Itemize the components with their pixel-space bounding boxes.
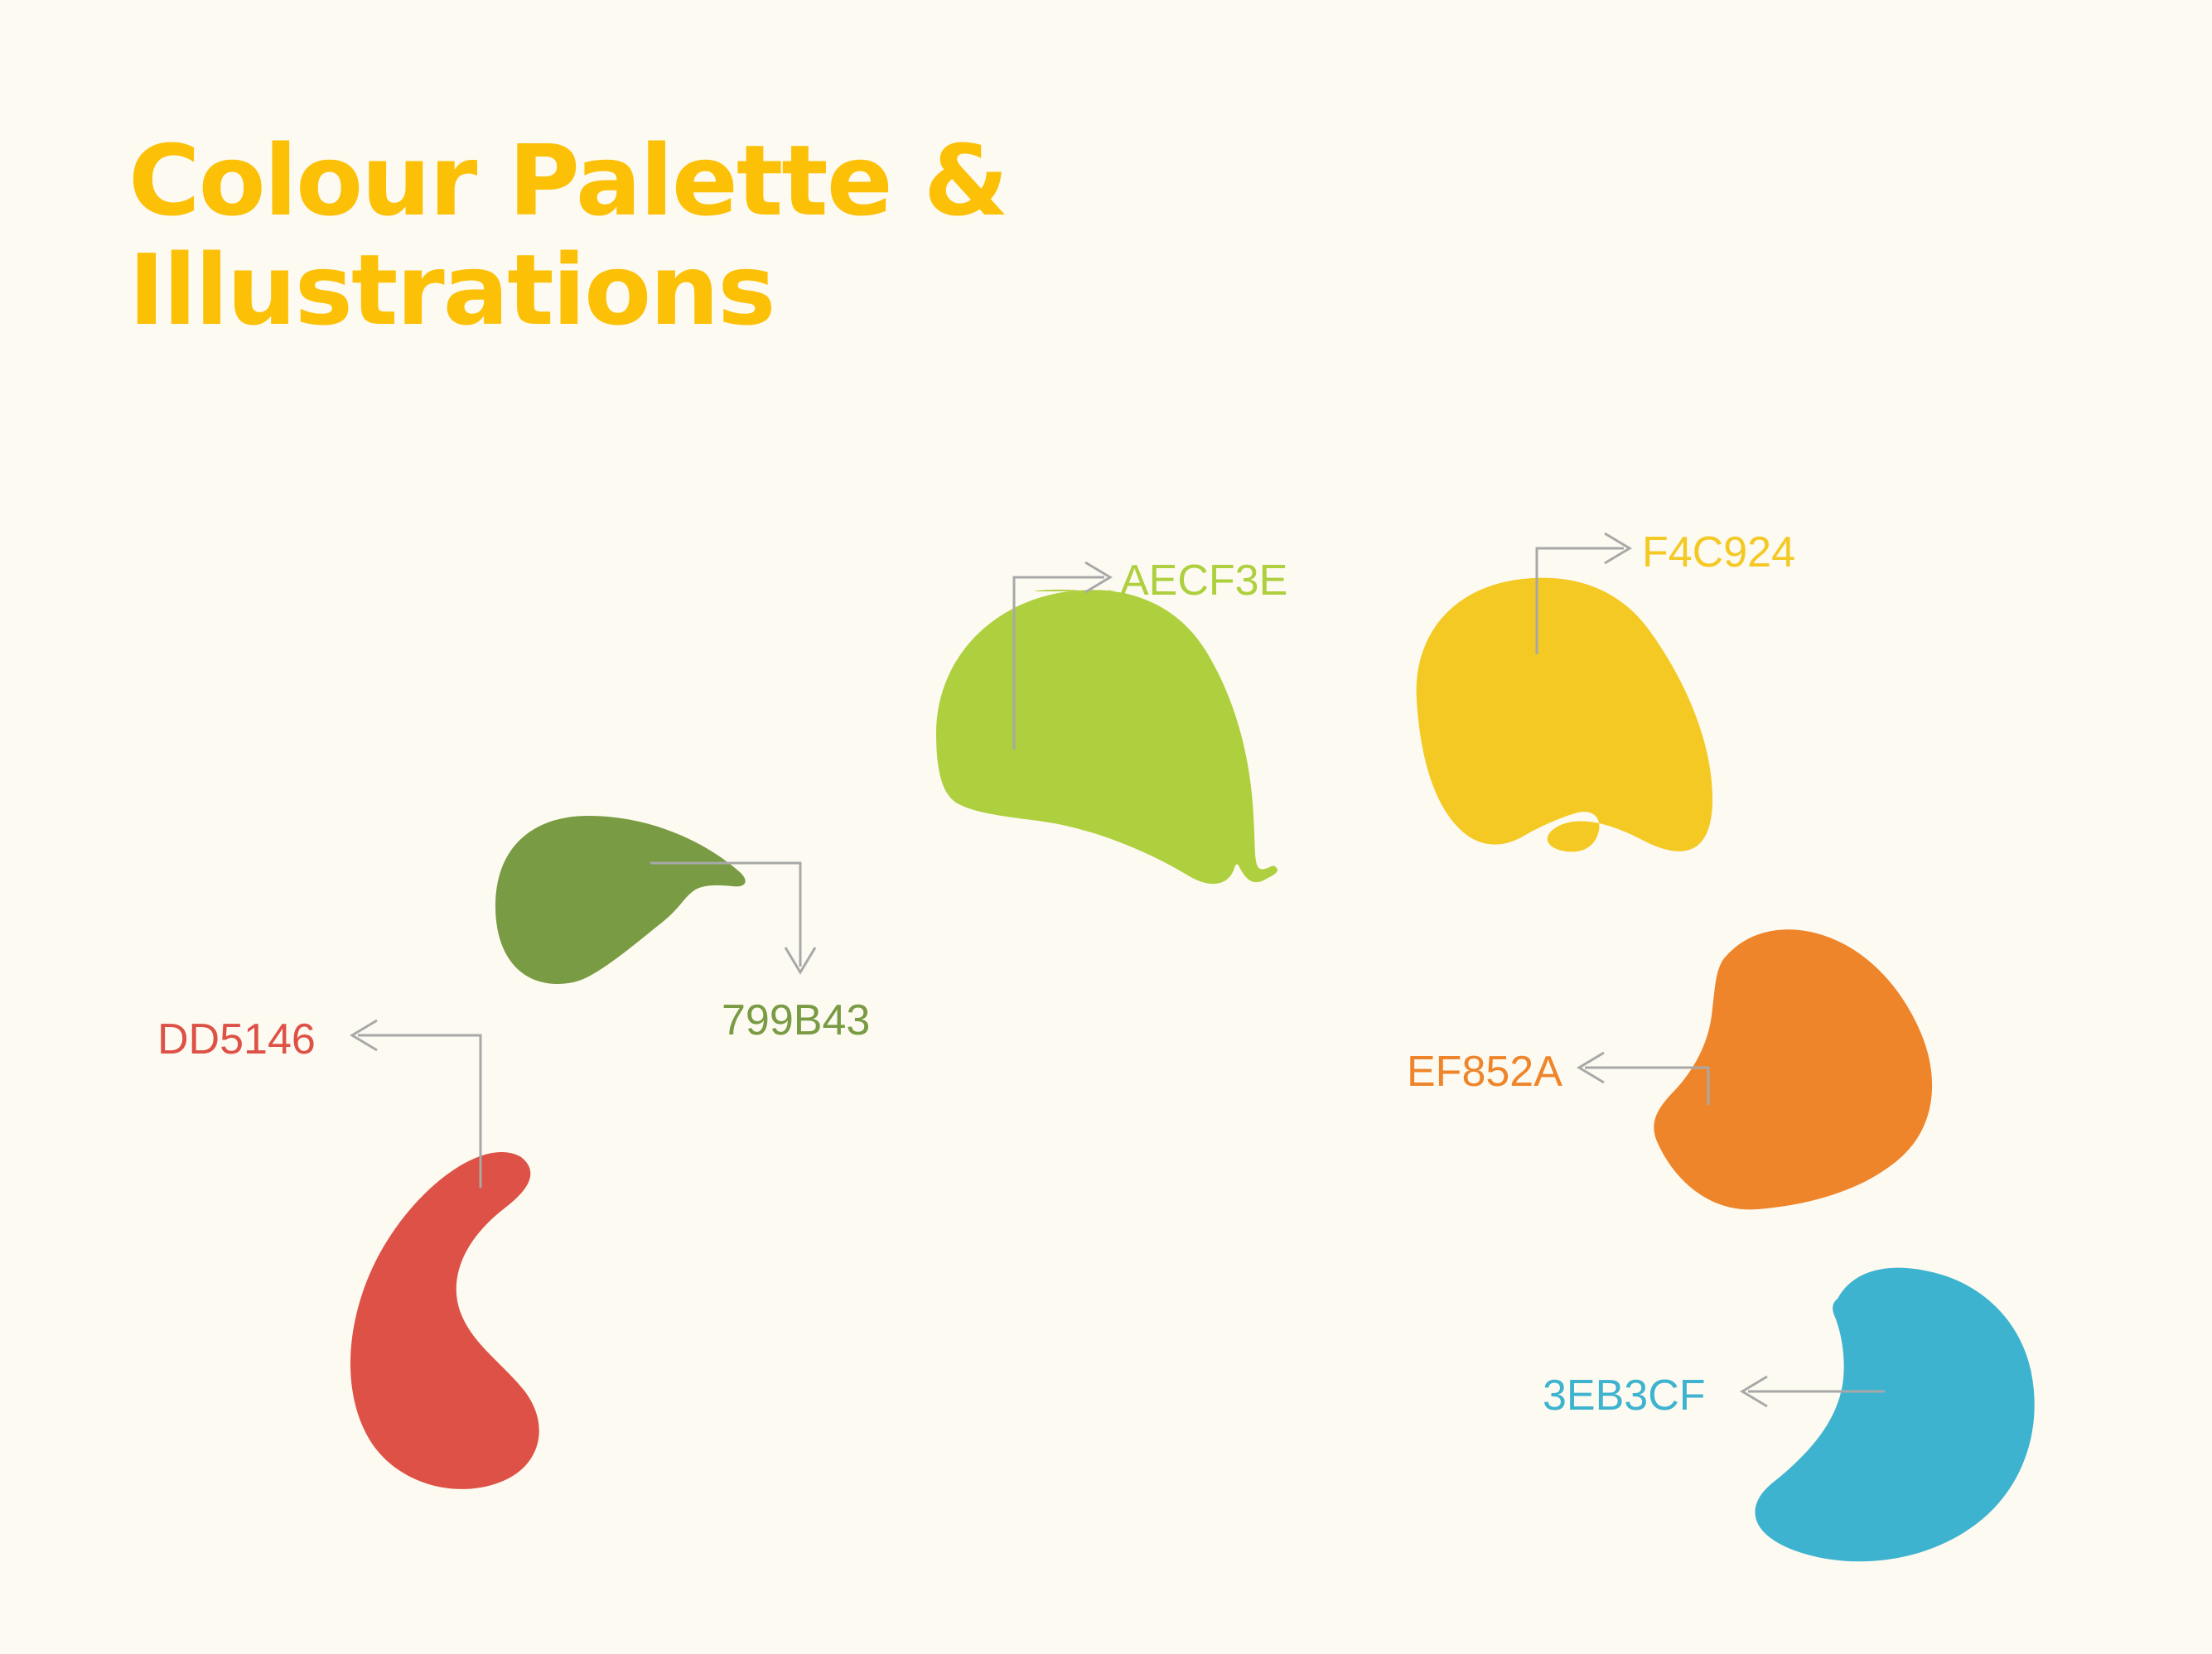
connector-red <box>352 1020 481 1188</box>
slide-canvas: Colour Palette & Illustrations AECF3E F4… <box>0 0 2212 1654</box>
label-orange: EF852A <box>1407 1048 1562 1096</box>
label-golden-yellow: F4C924 <box>1642 528 1795 576</box>
shape-orange <box>1654 929 1932 1209</box>
label-red: DD5146 <box>157 1015 316 1063</box>
shape-red <box>350 1152 539 1489</box>
shape-golden-yellow <box>1417 578 1712 852</box>
shape-blue <box>1755 1268 2034 1562</box>
label-blue: 3EB3CF <box>1543 1372 1706 1420</box>
label-light-green: AECF3E <box>1120 557 1287 605</box>
illustration-canvas: AECF3E F4C924 799B43 DD5146 EF852A <box>0 0 2212 1654</box>
label-olive-green: 799B43 <box>722 996 870 1044</box>
shape-olive-green <box>495 816 746 984</box>
shape-light-green-body <box>936 590 1277 884</box>
